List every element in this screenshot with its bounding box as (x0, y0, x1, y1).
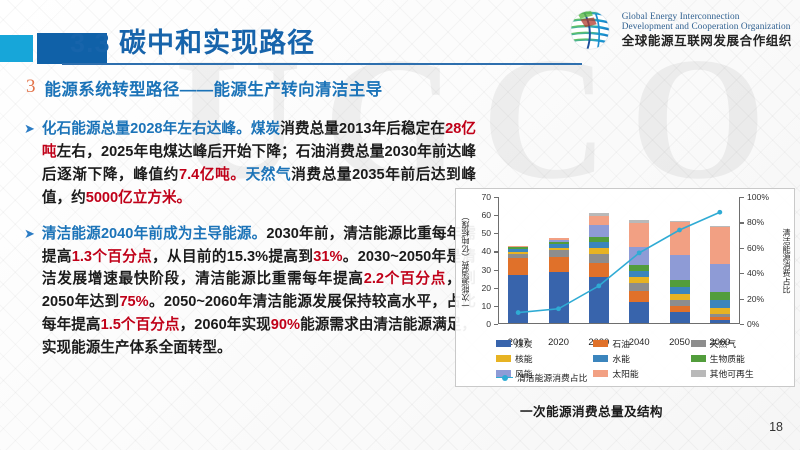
legend-item: 水能 (593, 352, 688, 365)
legend-swatch-icon (593, 340, 608, 347)
legend-label: 其他可再生 (710, 367, 754, 380)
chart-legend-line-entry: 清洁能源消费占比 (496, 371, 587, 384)
chart-y2-tick-label: 100% (747, 192, 769, 202)
legend-item: 石油 (593, 337, 688, 350)
circled-number-icon: 3 (26, 76, 36, 98)
chart-line-point (516, 310, 521, 315)
chart-panel: 一次能源消费（亿吨标煤） 清洁能源消费占比 0102030405060700%2… (455, 188, 795, 387)
logo-chinese: 全球能源互联网发展合作组织 (622, 34, 792, 48)
chart-line-point (677, 228, 682, 233)
bullet-arrow-icon: ➤ (24, 118, 35, 139)
chart-y2-tick (740, 299, 744, 300)
section-subtitle-row: 3 能源系统转型路径——能源生产转向清洁主导 (26, 76, 383, 100)
legend-label: 核能 (515, 352, 533, 365)
logo-text-block: Global Energy Interconnection Developmen… (622, 12, 792, 49)
legend-label: 生物质能 (710, 352, 745, 365)
legend-label: 清洁能源消费占比 (517, 371, 587, 384)
chart-y2-tick (740, 222, 744, 223)
legend-item: 生物质能 (691, 352, 786, 365)
legend-item: 核能 (496, 352, 591, 365)
chart-y2-tick (740, 324, 744, 325)
chart-caption: 一次能源消费总量及结构 (520, 401, 663, 420)
legend-label: 太阳能 (612, 367, 638, 380)
chart-y-tick (494, 324, 498, 325)
chart-y2-tick-label: 0% (747, 319, 759, 329)
chart-y-tick-label: 60 (481, 210, 491, 220)
section-subtitle: 能源系统转型路径——能源生产转向清洁主导 (45, 76, 383, 100)
bullet-item: ➤ 化石能源总量2028年左右达峰。煤炭消费总量2013年后稳定在28亿吨左右，… (24, 118, 476, 210)
legend-label: 天然气 (710, 337, 736, 350)
chart-y2-tick (740, 248, 744, 249)
organization-logo: Global Energy Interconnection Developmen… (566, 6, 792, 54)
page-number: 18 (769, 420, 783, 434)
bullet-text: 清洁能源2040年前成为主导能源。2030年前，清洁能源比重每年需提高1.3个百… (42, 223, 476, 360)
chart-y-tick-label: 10 (481, 301, 491, 311)
chart-y-tick-label: 40 (481, 246, 491, 256)
chart-line-point (596, 284, 601, 289)
chart-y2-tick-label: 20% (747, 294, 764, 304)
globe-icon (566, 6, 614, 54)
legend-swatch-icon (496, 355, 511, 362)
legend-swatch-icon (691, 355, 706, 362)
chart-y2-tick (740, 273, 744, 274)
legend-label: 水能 (612, 352, 630, 365)
chart-y2-tick-label: 40% (747, 268, 764, 278)
chart-y2-tick-label: 60% (747, 243, 764, 253)
header-divider (62, 63, 582, 65)
legend-swatch-icon (593, 370, 608, 377)
chart-line-point (637, 250, 642, 255)
chart-line-series (498, 197, 740, 324)
slide: UGCO 3.3 碳中和实现路径 (0, 0, 800, 450)
logo-english-line-2: Development and Cooperation Organization (622, 22, 792, 32)
chart-y-axis-title: 一次能源消费（亿吨标煤） (460, 212, 471, 309)
header-accent-block-cyan (0, 35, 33, 62)
legend-swatch-icon (593, 355, 608, 362)
legend-item: 煤炭 (496, 337, 591, 350)
chart-y-tick-label: 20 (481, 283, 491, 293)
chart-y2-axis-title: 清洁能源消费占比 (781, 229, 792, 294)
legend-label: 煤炭 (515, 337, 533, 350)
line-swatch-icon (496, 377, 513, 379)
legend-swatch-icon (691, 340, 706, 347)
legend-item: 其他可再生 (691, 367, 786, 380)
chart-line-point (556, 306, 561, 311)
legend-item: 太阳能 (593, 367, 688, 380)
chart-y-tick-label: 30 (481, 265, 491, 275)
bullet-arrow-icon: ➤ (24, 223, 35, 244)
bullet-item: ➤ 清洁能源2040年前成为主导能源。2030年前，清洁能源比重每年需提高1.3… (24, 223, 476, 360)
chart-y-tick-label: 70 (481, 192, 491, 202)
chart-y2-tick-label: 80% (747, 217, 764, 227)
body-text-column: ➤ 化石能源总量2028年左右达峰。煤炭消费总量2013年后稳定在28亿吨左右，… (24, 118, 476, 373)
logo-english-line-1: Global Energy Interconnection (622, 12, 792, 22)
chart-line-point (717, 210, 722, 215)
chart-y-tick-label: 0 (486, 319, 491, 329)
chart-plot-area: 0102030405060700%20%40%60%80%100%2017202… (498, 197, 740, 324)
chart-y2-tick (740, 197, 744, 198)
bullet-text: 化石能源总量2028年左右达峰。煤炭消费总量2013年后稳定在28亿吨左右，20… (42, 118, 476, 210)
legend-item: 天然气 (691, 337, 786, 350)
page-title: 3.3 碳中和实现路径 (70, 21, 315, 60)
chart-y-tick-label: 50 (481, 228, 491, 238)
legend-swatch-icon (496, 340, 511, 347)
legend-swatch-icon (691, 370, 706, 377)
legend-label: 石油 (612, 337, 630, 350)
